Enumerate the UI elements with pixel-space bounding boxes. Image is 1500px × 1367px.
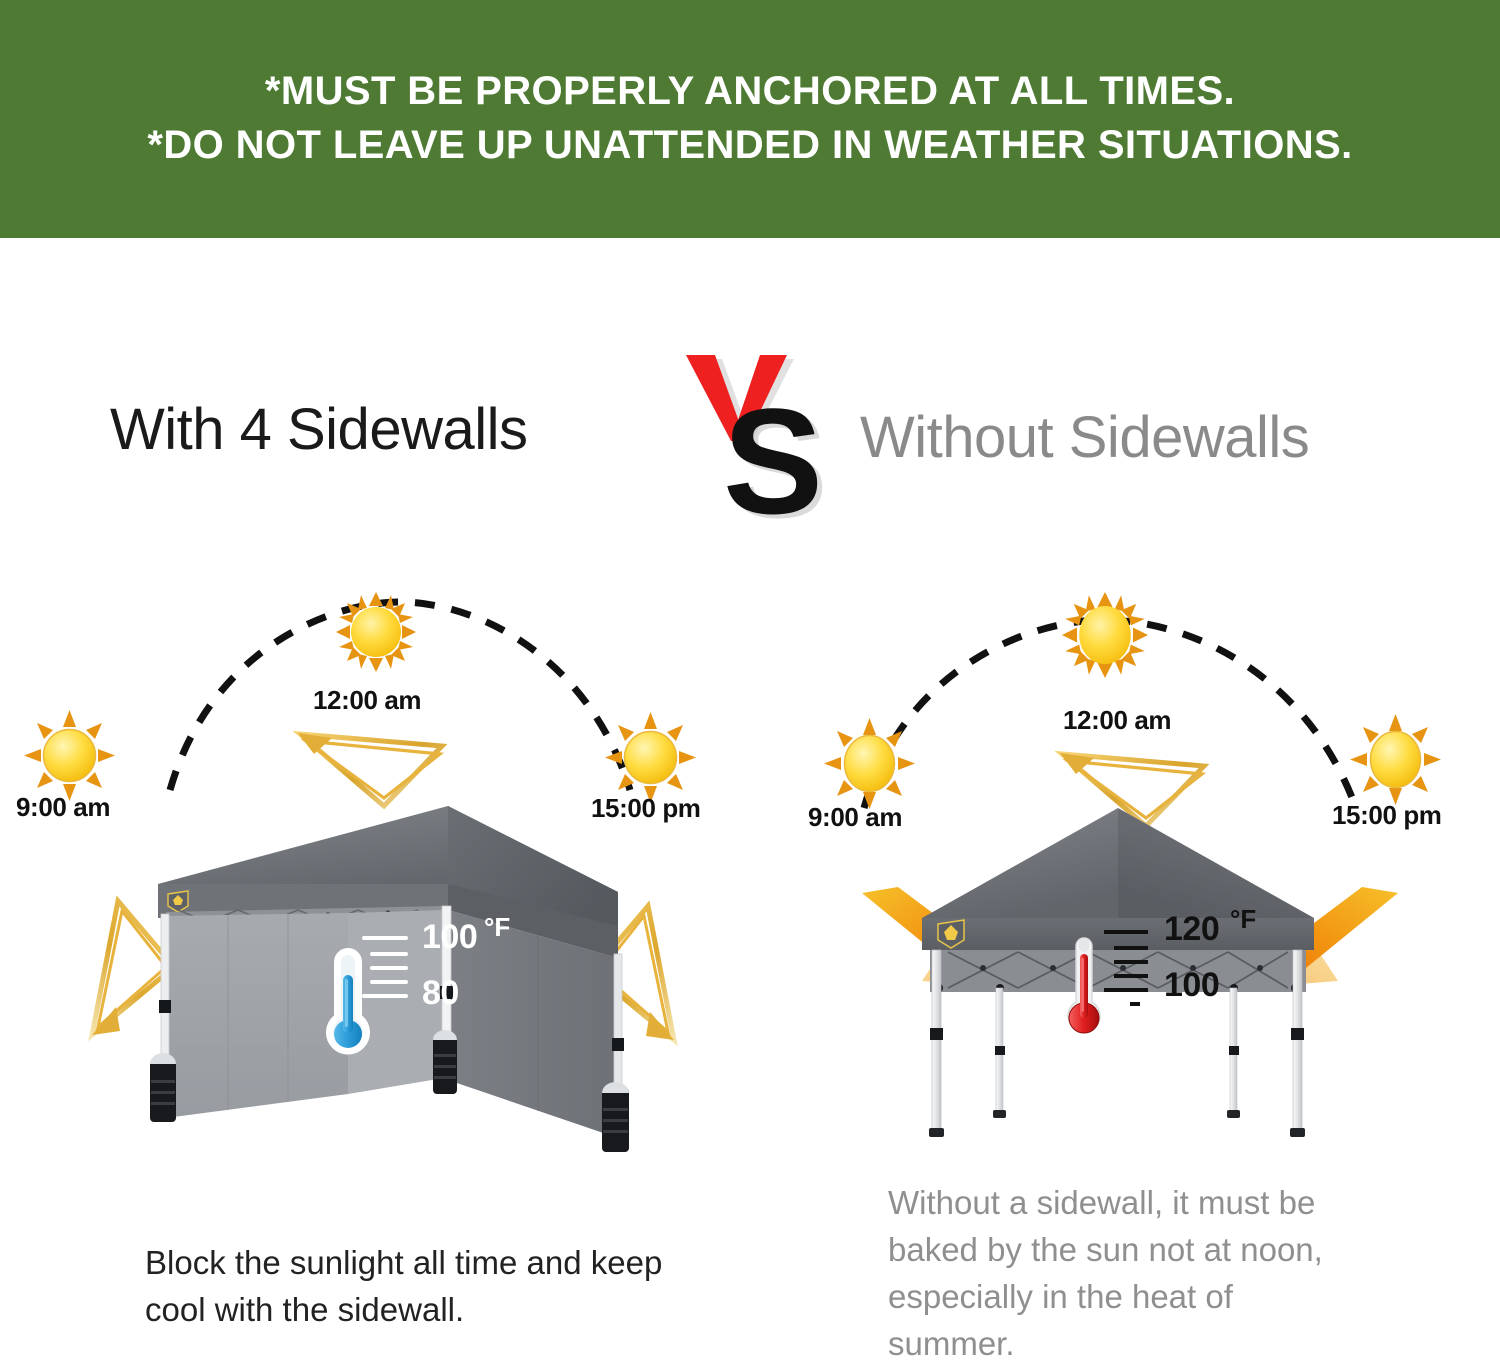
sun-afternoon-icon-right xyxy=(1348,712,1443,807)
banner-warning-line-1: *MUST BE PROPERLY ANCHORED AT ALL TIMES. xyxy=(265,65,1235,119)
sun-morning-label-left: 9:00 am xyxy=(16,792,110,823)
sun-noon-icon-right xyxy=(1062,592,1148,678)
left-panel-caption: Block the sunlight all time and keep coo… xyxy=(145,1240,665,1334)
weight-bag-left xyxy=(150,1053,176,1122)
vs-badge-icon: S S xyxy=(660,345,840,530)
left-panel-with-sidewalls: 9:00 am 15:00 pm xyxy=(0,560,760,1349)
sun-morning-icon-right xyxy=(822,716,917,811)
canopy-leg-back-right xyxy=(1227,988,1240,1118)
weight-bag-right xyxy=(602,1082,629,1152)
sun-morning-icon-left xyxy=(22,708,117,803)
right-comparison-title: Without Sidewalls xyxy=(860,404,1420,471)
weight-bag-center xyxy=(433,1030,457,1094)
thermometer-scale-cool xyxy=(360,930,420,1020)
thermometer-high-value-left: 100 xyxy=(422,918,477,957)
thermometer-high-value-right: 120 xyxy=(1164,910,1219,949)
thermometer-scale-hot xyxy=(1100,924,1160,1016)
thermometer-unit-right: °F xyxy=(1230,904,1256,935)
sun-morning-label-right: 9:00 am xyxy=(808,802,902,833)
left-comparison-title: With 4 Sidewalls xyxy=(110,396,630,463)
thermometer-low-value-left: 80 xyxy=(422,974,459,1013)
vs-letter-s: S xyxy=(723,377,823,530)
sun-afternoon-label-right: 15:00 pm xyxy=(1332,800,1442,831)
warning-banner: *MUST BE PROPERLY ANCHORED AT ALL TIMES.… xyxy=(0,0,1500,238)
sun-noon-label-left: 12:00 am xyxy=(313,685,421,716)
canopy-leg-back-left xyxy=(993,988,1006,1118)
sidewall-front-left xyxy=(166,913,348,1118)
thermometer-unit-left: °F xyxy=(484,912,510,943)
banner-warning-line-2: *DO NOT LEAVE UP UNATTENDED IN WEATHER S… xyxy=(147,119,1352,173)
thermometer-low-value-right: 100 xyxy=(1164,966,1219,1005)
sun-noon-label-right: 12:00 am xyxy=(1063,705,1171,736)
sun-noon-icon-left xyxy=(336,592,416,672)
right-panel-caption: Without a sidewall, it must be baked by … xyxy=(888,1180,1368,1367)
